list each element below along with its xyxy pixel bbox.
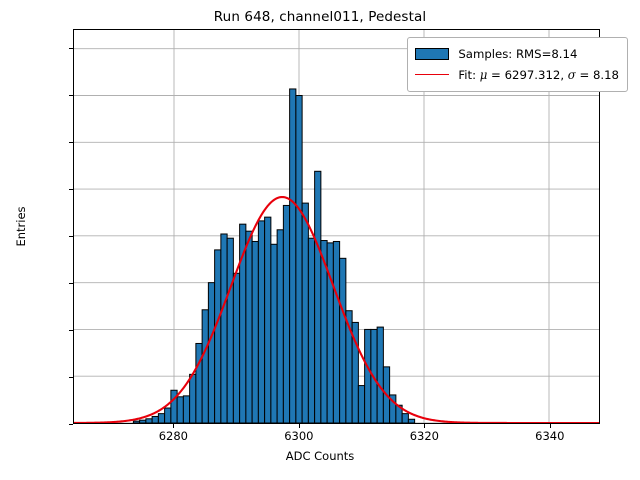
histogram-bar <box>296 96 302 424</box>
x-tick-label: 6300 <box>284 429 313 443</box>
histogram-bar <box>140 420 146 423</box>
histogram-bar <box>152 416 158 423</box>
histogram-bar <box>408 419 414 423</box>
histogram-bar <box>265 217 271 423</box>
histogram-bar <box>358 386 364 423</box>
histogram-bar <box>202 310 208 423</box>
legend-label-samples: Samples: RMS=8.14 <box>458 47 577 61</box>
histogram-bar <box>190 374 196 423</box>
x-tick-mark <box>424 424 425 428</box>
histogram-bar <box>196 343 202 423</box>
y-tick-mark <box>69 236 73 237</box>
histogram-bar <box>133 421 139 423</box>
histogram-bar <box>365 329 371 423</box>
legend-fit-prefix: Fit: <box>458 68 479 82</box>
histogram-bar <box>290 89 296 423</box>
histogram-bar <box>377 327 383 423</box>
histogram-bar <box>215 250 221 423</box>
x-tick-mark <box>299 424 300 428</box>
legend-patch-icon <box>415 48 449 60</box>
matplotlib-figure: Run 648, channel011, Pedestal Entries 01… <box>0 0 640 480</box>
histogram-bar <box>233 273 239 423</box>
histogram-bar <box>340 258 346 423</box>
legend-item-fit[interactable]: Fit: μ = 6297.312, σ = 8.18 <box>415 64 619 85</box>
histogram-bar <box>252 241 258 423</box>
x-tick-mark <box>173 424 174 428</box>
histogram-bar <box>221 234 227 423</box>
y-tick-mark <box>69 189 73 190</box>
x-axis-label: ADC Counts <box>0 449 640 463</box>
legend-item-samples[interactable]: Samples: RMS=8.14 <box>415 43 619 64</box>
histogram-bar <box>183 396 189 423</box>
histogram-bar <box>333 241 339 423</box>
histogram-bar <box>258 221 264 423</box>
legend-label-fit: Fit: μ = 6297.312, σ = 8.18 <box>458 68 619 82</box>
histogram-bar <box>277 230 283 423</box>
y-tick-mark <box>69 48 73 49</box>
legend-sigma-symbol: σ <box>568 68 576 82</box>
x-tick-label: 6340 <box>535 429 564 443</box>
histogram-bar <box>271 244 277 423</box>
histogram-bar <box>227 238 233 423</box>
x-tick-label: 6320 <box>410 429 439 443</box>
histogram-bar <box>308 238 314 423</box>
histogram-bar <box>302 203 308 423</box>
histogram-bar <box>177 397 183 423</box>
legend-sigma-value: = 8.18 <box>576 68 619 82</box>
histogram-bar <box>402 414 408 423</box>
y-tick-mark <box>69 377 73 378</box>
histogram-bar <box>158 414 164 423</box>
x-tick-label: 6280 <box>159 429 188 443</box>
y-tick-mark <box>69 95 73 96</box>
histogram-bar <box>165 408 171 423</box>
histogram-bar <box>246 231 252 423</box>
histogram-bar <box>208 283 214 423</box>
chart-legend[interactable]: Samples: RMS=8.14 Fit: μ = 6297.312, σ =… <box>407 37 628 92</box>
histogram-bar <box>315 171 321 423</box>
histogram-bars <box>133 89 414 423</box>
y-tick-mark <box>69 330 73 331</box>
y-tick-mark <box>69 283 73 284</box>
y-tick-mark <box>69 142 73 143</box>
y-tick-mark <box>69 424 73 425</box>
page-title: Run 648, channel011, Pedestal <box>0 9 640 25</box>
histogram-bar <box>146 419 152 423</box>
x-tick-mark <box>550 424 551 428</box>
y-axis-label: Entries <box>14 29 32 424</box>
histogram-bar <box>283 205 289 423</box>
legend-line-icon <box>415 74 449 75</box>
legend-mu-value: = 6297.312, <box>487 68 567 82</box>
